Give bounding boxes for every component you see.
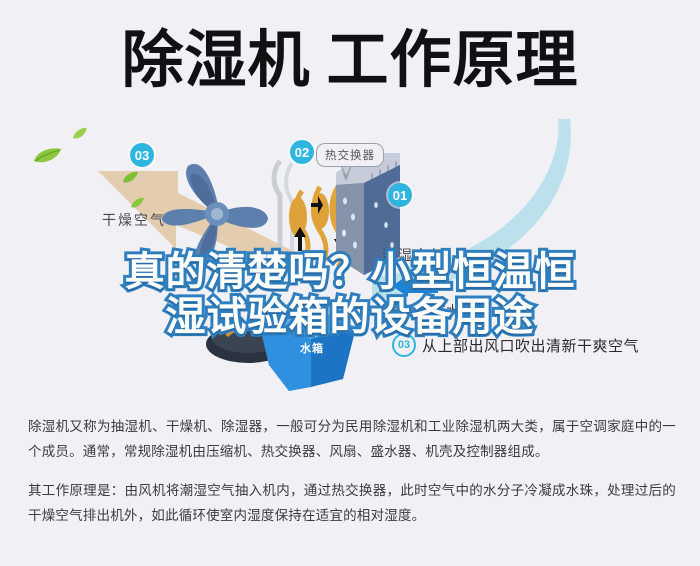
- badge-02-heat-exchanger: 02: [290, 140, 314, 164]
- legend-row-step-02: 器冷凝成水珠: [392, 300, 692, 319]
- page-title-right: 工作原理: [327, 26, 579, 95]
- page-title-left: 除湿机: [121, 26, 310, 95]
- water-tank-label: 水箱: [300, 340, 324, 356]
- body-paragraph-2: 其工作原理是：由风机将潮湿空气抽入机内，通过热交换器，此时空气中的水分子冷凝成水…: [28, 478, 676, 528]
- badge-01-humid-air: 01: [388, 183, 412, 207]
- badge-03-dry-air: 03: [130, 143, 154, 167]
- badge-03-legend: 03: [392, 333, 416, 357]
- body-paragraph-1: 除湿机又称为抽湿机、干燥机、除湿器，一般可分为民用除湿机和工业除湿机两大类，属于…: [28, 414, 676, 464]
- legend-row-step-03: 03 从上部出风口吹出清新干爽空气: [392, 333, 692, 357]
- leaf-icon: [32, 147, 62, 165]
- poster-page: 除湿机工作原理: [0, 0, 700, 566]
- dry-air-label: 干燥空气: [102, 210, 166, 230]
- fan-blades-icon: [158, 160, 276, 272]
- leaf-icon: [72, 127, 88, 140]
- air-inlet-arrow-icon: [392, 275, 438, 297]
- steps-legend: 器冷凝成水珠 03 从上部出风口吹出清新干爽空气: [392, 300, 692, 371]
- legend-step-02-text: 器冷凝成水珠: [392, 300, 473, 319]
- leaf-icon: [122, 171, 139, 184]
- article-body: 除湿机又称为抽湿机、干燥机、除湿器，一般可分为民用除湿机和工业除湿机两大类，属于…: [28, 414, 676, 542]
- legend-step-03-text: 从上部出风口吹出清新干爽空气: [422, 335, 639, 356]
- humid-air-label: 潮湿空气: [382, 245, 446, 265]
- heat-exchanger-callout: 热交换器: [316, 143, 384, 167]
- page-title: 除湿机工作原理: [0, 26, 700, 96]
- leaf-icon: [130, 197, 145, 209]
